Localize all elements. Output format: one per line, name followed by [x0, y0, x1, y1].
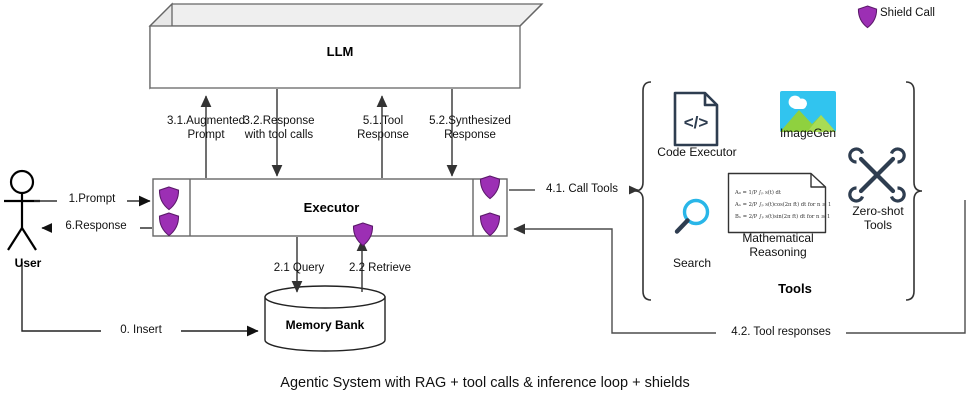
- legend-label: Shield Call: [880, 7, 935, 19]
- shield-tool-call-icon: [479, 175, 501, 200]
- edge-label-response-tool-calls: 3.2.Response with tool calls: [227, 115, 331, 142]
- edge-label-synthesized-response: 5.2.Synthesized Response: [419, 115, 521, 142]
- edge-label-retrieve: 2.2 Retrieve: [334, 262, 426, 276]
- edge-label-response: 6.Response: [52, 220, 140, 234]
- edge-label-tool-response: 5.1.Tool Response: [339, 115, 427, 142]
- edge-label-insert: 0. Insert: [101, 324, 181, 338]
- svg-text:Aₙ = 2/P ∫ₚ s(t)cos(2π ft) dt: Aₙ = 2/P ∫ₚ s(t)cos(2π ft) dt for n ≥ 1: [734, 201, 831, 208]
- user-actor: [4, 171, 40, 250]
- crossed-wrenches-icon: [849, 147, 905, 203]
- code-document-icon: </>: [672, 90, 720, 148]
- shield-tool-response-icon: [479, 212, 501, 237]
- shield-executor-output-icon: [158, 212, 180, 237]
- tool-label-math-reasoning: Mathematical Reasoning: [718, 231, 838, 259]
- shield-executor-input-icon: [158, 186, 180, 211]
- shield-memory-retrieve-icon: [352, 222, 374, 247]
- tools-panel-title: Tools: [715, 281, 875, 296]
- edge-insert: [22, 262, 258, 331]
- user-label: User: [0, 256, 56, 270]
- edge-label-tool-responses: 4.2. Tool responses: [716, 326, 846, 340]
- llm-label: LLM: [150, 44, 530, 59]
- edge-label-call-tools: 4.1. Call Tools: [535, 183, 629, 197]
- executor-label: Executor: [190, 200, 473, 215]
- edge-label-prompt: 1.Prompt: [57, 193, 127, 207]
- svg-text:Bₙ = 2/P ∫ₚ s(t)sin(2π ft) dt: Bₙ = 2/P ∫ₚ s(t)sin(2π ft) dt for n ≥ 1: [735, 213, 830, 220]
- legend-shield-icon: [857, 5, 878, 29]
- memory-bank-label: Memory Bank: [265, 318, 385, 332]
- tool-label-imagegen: ImageGen: [760, 126, 856, 140]
- equations-document-icon: A₀ = 1/P ∫ₚ s(t) dt Aₙ = 2/P ∫ₚ s(t)cos(…: [727, 172, 827, 234]
- tool-label-code-executor: Code Executor: [645, 145, 749, 159]
- tool-label-zero-shot-tools: Zero-shot Tools: [836, 204, 920, 232]
- svg-text:</>: </>: [684, 113, 709, 132]
- svg-text:A₀ = 1/P ∫ₚ s(t) dt: A₀ = 1/P ∫ₚ s(t) dt: [734, 189, 782, 196]
- magnifier-icon: [672, 197, 712, 239]
- edge-label-query: 2.1 Query: [262, 262, 336, 276]
- diagram-caption: Agentic System with RAG + tool calls & i…: [0, 375, 970, 391]
